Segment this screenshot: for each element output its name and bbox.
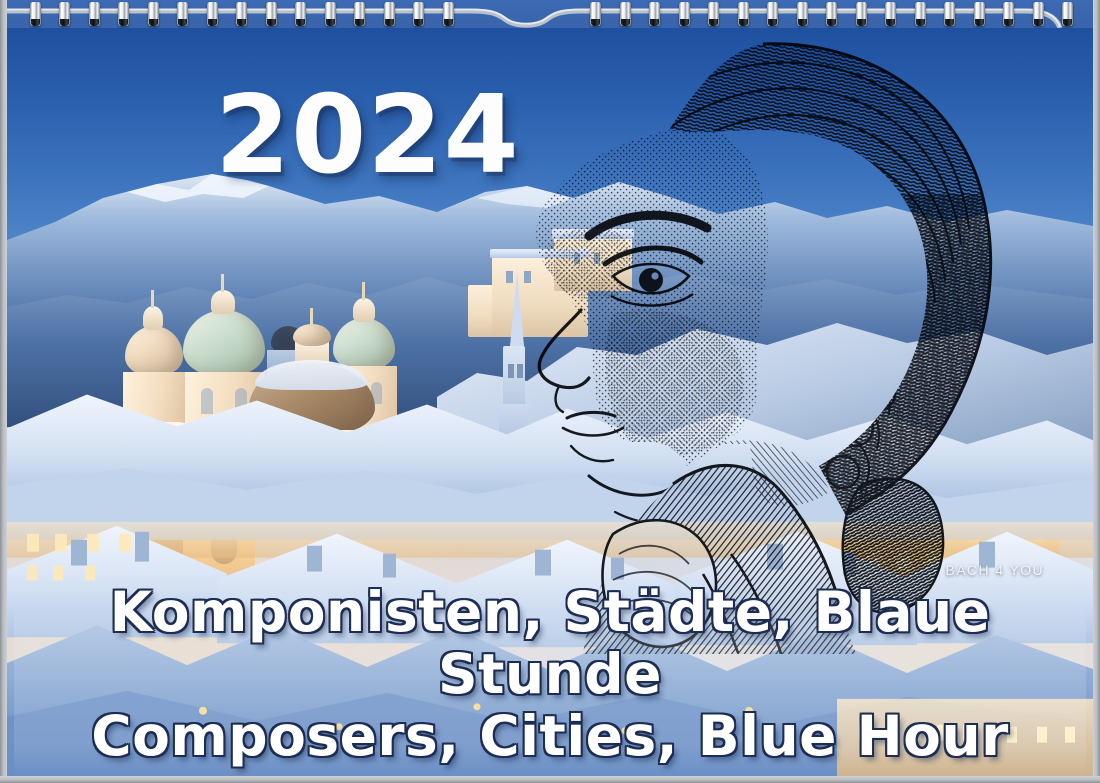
title-german: Komponisten, Städte, Blaue Stunde xyxy=(0,581,1100,705)
binding-ring xyxy=(885,2,896,26)
binding-ring xyxy=(118,2,129,26)
binding-ring xyxy=(856,2,867,26)
mozart-engraving-portrait xyxy=(463,22,1093,654)
binding-ring xyxy=(236,2,247,26)
binding-ring xyxy=(266,2,277,26)
binding-ring xyxy=(590,2,601,26)
binding-ring xyxy=(30,2,41,26)
binding-ring xyxy=(767,2,778,26)
binding-ring xyxy=(413,2,424,26)
cover-title-block: Komponisten, Städte, Blaue Stunde Compos… xyxy=(0,581,1100,767)
calendar-cover: 2024 BACH 4 YOU Komponisten, Städte, Bla… xyxy=(0,0,1100,783)
binding-ring xyxy=(177,2,188,26)
binding-ring xyxy=(649,2,660,26)
binding-wire xyxy=(0,0,1100,28)
spiral-binding xyxy=(0,0,1100,28)
binding-ring xyxy=(89,2,100,26)
binding-ring xyxy=(1003,2,1014,26)
binding-ring xyxy=(915,2,926,26)
binding-ring xyxy=(59,2,70,26)
binding-ring xyxy=(207,2,218,26)
binding-ring xyxy=(974,2,985,26)
binding-ring xyxy=(384,2,395,26)
binding-ring xyxy=(354,2,365,26)
cover-edge-bottom xyxy=(0,776,1100,783)
binding-ring xyxy=(1033,2,1044,26)
binding-ring xyxy=(1062,2,1073,26)
binding-ring xyxy=(738,2,749,26)
title-english: Composers, Cities, Blue Hour xyxy=(0,705,1100,767)
binding-ring xyxy=(148,2,159,26)
binding-ring xyxy=(826,2,837,26)
binding-ring xyxy=(295,2,306,26)
brand-logo: BACH 4 YOU xyxy=(945,562,1044,578)
binding-ring xyxy=(944,2,955,26)
binding-ring xyxy=(679,2,690,26)
binding-ring xyxy=(620,2,631,26)
binding-ring xyxy=(325,2,336,26)
year-label: 2024 xyxy=(215,82,520,190)
binding-ring xyxy=(797,2,808,26)
binding-ring xyxy=(708,2,719,26)
binding-ring xyxy=(443,2,454,26)
